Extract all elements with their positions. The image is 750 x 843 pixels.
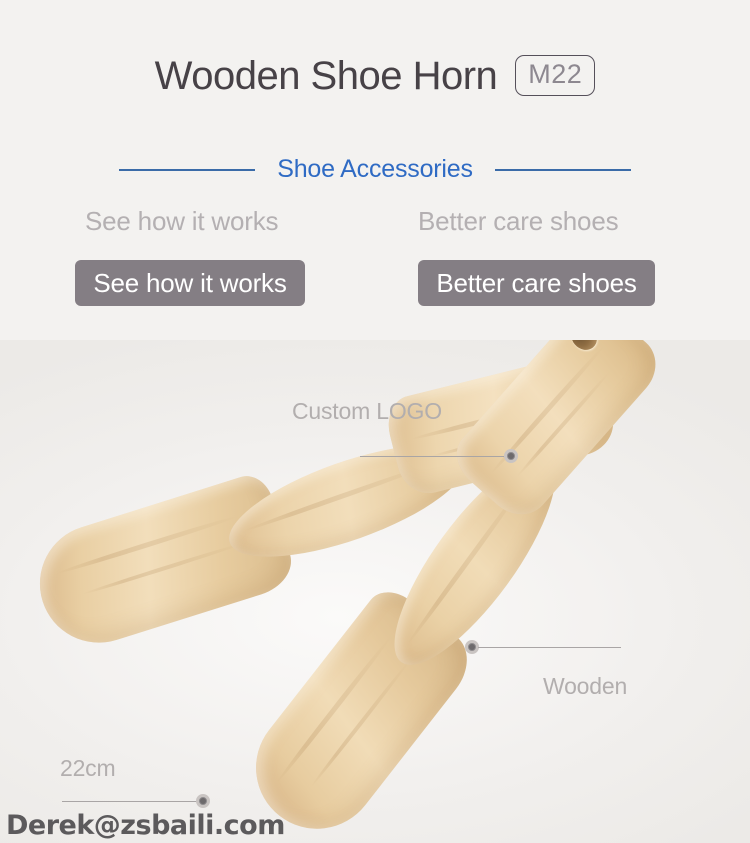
callout-label-length: 22cm [60, 755, 115, 782]
feature-plain-row: See how it works Better care shoes [0, 206, 750, 248]
feature-label-better-care-shoes: Better care shoes [418, 206, 618, 237]
feature-label-see-how-it-works: See how it works [85, 206, 278, 237]
page-title: Wooden Shoe Horn [155, 56, 498, 96]
category-subheading: Shoe Accessories [0, 155, 750, 184]
divider-line-left [119, 169, 255, 171]
callout-label-custom-logo: Custom LOGO [292, 398, 442, 425]
callout-marker-length [196, 794, 210, 808]
watermark-email: Derek@zsbaili.com [6, 810, 285, 841]
horn-blade [25, 470, 299, 658]
category-label: Shoe Accessories [277, 155, 473, 184]
product-image: Wooden Shoe Horn M22 Shoe Accessories Se… [0, 0, 750, 843]
feature-button-better-care-shoes[interactable]: Better care shoes [418, 260, 655, 306]
callout-label-wooden: Wooden [543, 673, 627, 700]
callout-marker-custom-logo [504, 449, 518, 463]
header: Wooden Shoe Horn M22 [0, 55, 750, 96]
feature-button-see-how-it-works[interactable]: See how it works [75, 260, 305, 306]
model-badge: M22 [515, 55, 595, 96]
callout-leader-wooden [478, 647, 621, 648]
product-photo: Custom LOGO Wooden 22cm [0, 340, 750, 843]
callout-marker-wooden [465, 640, 479, 654]
callout-leader-length [62, 801, 200, 802]
callout-leader-custom-logo [360, 456, 508, 457]
divider-line-right [495, 169, 631, 171]
